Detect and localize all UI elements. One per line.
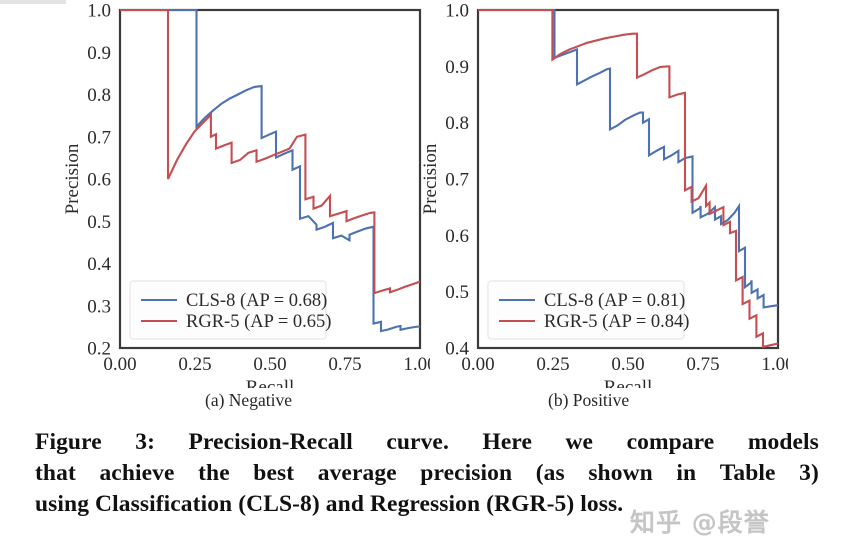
caption-word: the (198, 458, 230, 489)
y-tick-label: 0.4 (87, 254, 111, 275)
y-tick-label: 0.3 (87, 296, 111, 317)
y-tick-label: 0.8 (445, 113, 469, 134)
figure-caption: Figure3:Precision-Recallcurve.Herewecomp… (35, 427, 819, 520)
chart-panels: 0.20.30.40.50.60.70.80.91.00.000.250.500… (0, 0, 846, 388)
chart-panel-negative: 0.20.30.40.50.60.70.80.91.00.000.250.500… (58, 0, 430, 393)
y-tick-label: 0.8 (87, 85, 111, 106)
caption-word: Table (720, 458, 776, 489)
x-tick-label: 0.00 (103, 354, 136, 375)
y-axis-label: Precision (62, 143, 83, 214)
figure-container: 0.20.30.40.50.60.70.80.91.00.000.250.500… (0, 0, 846, 552)
precision-recall-chart-negative: 0.20.30.40.50.60.70.80.91.00.000.250.500… (58, 0, 430, 388)
x-tick-label: 1.00 (761, 354, 788, 375)
caption-line-3: using Classification (CLS-8) and Regress… (35, 489, 819, 520)
caption-line-2: thatachievethebestaverageprecision(assho… (35, 458, 819, 489)
y-tick-label: 1.0 (445, 1, 469, 22)
legend-label-cls-8: CLS-8 (AP = 0.81) (544, 291, 685, 311)
x-tick-label: 0.75 (328, 354, 361, 375)
caption-word: curve. (386, 427, 449, 458)
y-tick-label: 0.9 (87, 43, 111, 64)
x-tick-label: 0.00 (461, 354, 494, 375)
caption-word: that (35, 458, 76, 489)
caption-word: we (565, 427, 593, 458)
caption-word: Precision-Recall (189, 427, 353, 458)
caption-word: 3: (135, 427, 155, 458)
subcaptions: (a) Negative (b) Positive (0, 390, 846, 420)
y-tick-label: 1.0 (87, 1, 111, 22)
x-axis-label: Recall (246, 377, 295, 388)
legend-label-rgr-5: RGR-5 (AP = 0.65) (186, 312, 331, 332)
series-line-cls-8 (478, 10, 778, 307)
y-tick-label: 0.9 (445, 57, 469, 78)
chart-panel-positive: 0.40.50.60.70.80.91.00.000.250.500.751.0… (416, 0, 788, 393)
caption-line-1: Figure3:Precision-Recallcurve.Herewecomp… (35, 427, 819, 458)
legend-label-rgr-5: RGR-5 (AP = 0.84) (544, 312, 689, 332)
y-tick-label: 0.5 (87, 212, 111, 233)
caption-word: models (748, 427, 819, 458)
caption-word: best (253, 458, 294, 489)
x-tick-label: 0.25 (178, 354, 211, 375)
x-tick-label: 0.50 (611, 354, 644, 375)
x-axis-label: Recall (604, 377, 653, 388)
y-axis-label: Precision (420, 143, 441, 214)
x-tick-label: 0.75 (686, 354, 719, 375)
subcaption-positive: (b) Positive (548, 390, 629, 411)
caption-word: (as (536, 458, 565, 489)
legend-label-cls-8: CLS-8 (AP = 0.68) (186, 291, 327, 311)
caption-word: compare (627, 427, 715, 458)
x-tick-label: 0.50 (253, 354, 286, 375)
caption-word: precision (420, 458, 512, 489)
caption-word: Here (482, 427, 532, 458)
caption-word: Figure (35, 427, 102, 458)
caption-word: shown (588, 458, 653, 489)
caption-word: average (318, 458, 397, 489)
subcaption-negative: (a) Negative (205, 390, 292, 411)
y-tick-label: 0.6 (87, 170, 111, 191)
series-line-rgr-5 (120, 10, 420, 293)
x-tick-label: 0.25 (536, 354, 569, 375)
y-tick-label: 0.5 (445, 282, 469, 303)
y-tick-label: 0.7 (445, 170, 469, 191)
caption-word: achieve (99, 458, 174, 489)
y-tick-label: 0.7 (87, 127, 111, 148)
precision-recall-chart-positive: 0.40.50.60.70.80.91.00.000.250.500.751.0… (416, 0, 788, 388)
caption-word: 3) (799, 458, 819, 489)
caption-word: in (676, 458, 696, 489)
y-tick-label: 0.6 (445, 226, 469, 247)
